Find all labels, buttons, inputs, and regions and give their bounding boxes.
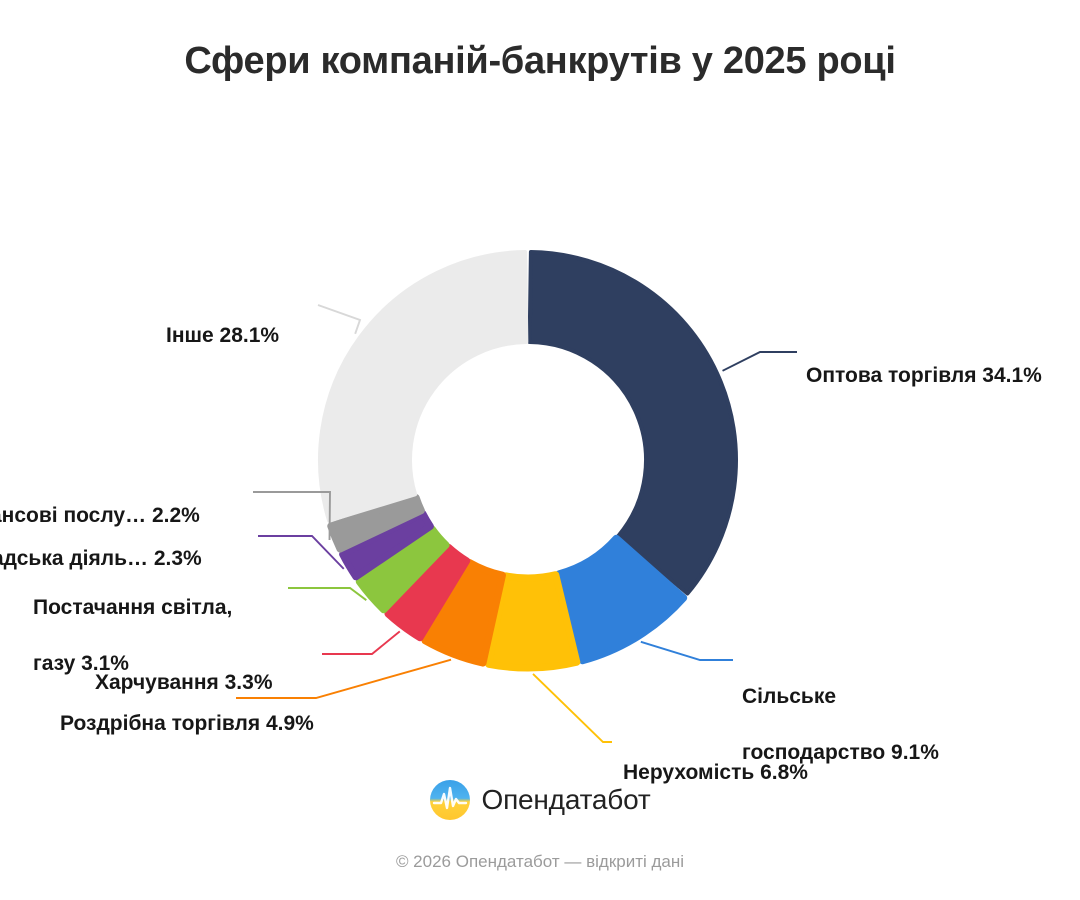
leader-line: [533, 674, 612, 742]
donut-slice-group: [320, 252, 736, 668]
brand-footer: Опендатабот: [0, 780, 1080, 820]
slice-label-finance: ансові послу… 2.2%: [0, 474, 200, 530]
slice-label-utilities: Постачання світла, газу 3.1%: [33, 566, 232, 678]
opendatabot-logo-icon: [430, 780, 470, 820]
copyright-text: © 2026 Опендатабот — відкриті дані: [0, 852, 1080, 872]
slice-label-wholesale: Оптова торгівля 34.1%: [806, 334, 1042, 390]
donut-slice[interactable]: [320, 252, 526, 521]
leader-line: [318, 305, 360, 334]
brand-name: Опендатабот: [482, 784, 651, 816]
leader-line: [322, 631, 400, 654]
slice-label-other: Інше 28.1%: [166, 294, 279, 350]
leader-line: [253, 492, 330, 540]
leader-line: [723, 352, 797, 371]
leader-line: [258, 536, 344, 569]
chart-canvas: Сфери компаній-банкрутів у 2025 році Опт…: [0, 0, 1080, 900]
leader-line: [288, 588, 366, 600]
slice-label-real-estate: Нерухомість 6.8%: [623, 731, 808, 787]
leader-line: [641, 642, 733, 660]
donut-slice[interactable]: [530, 252, 736, 593]
